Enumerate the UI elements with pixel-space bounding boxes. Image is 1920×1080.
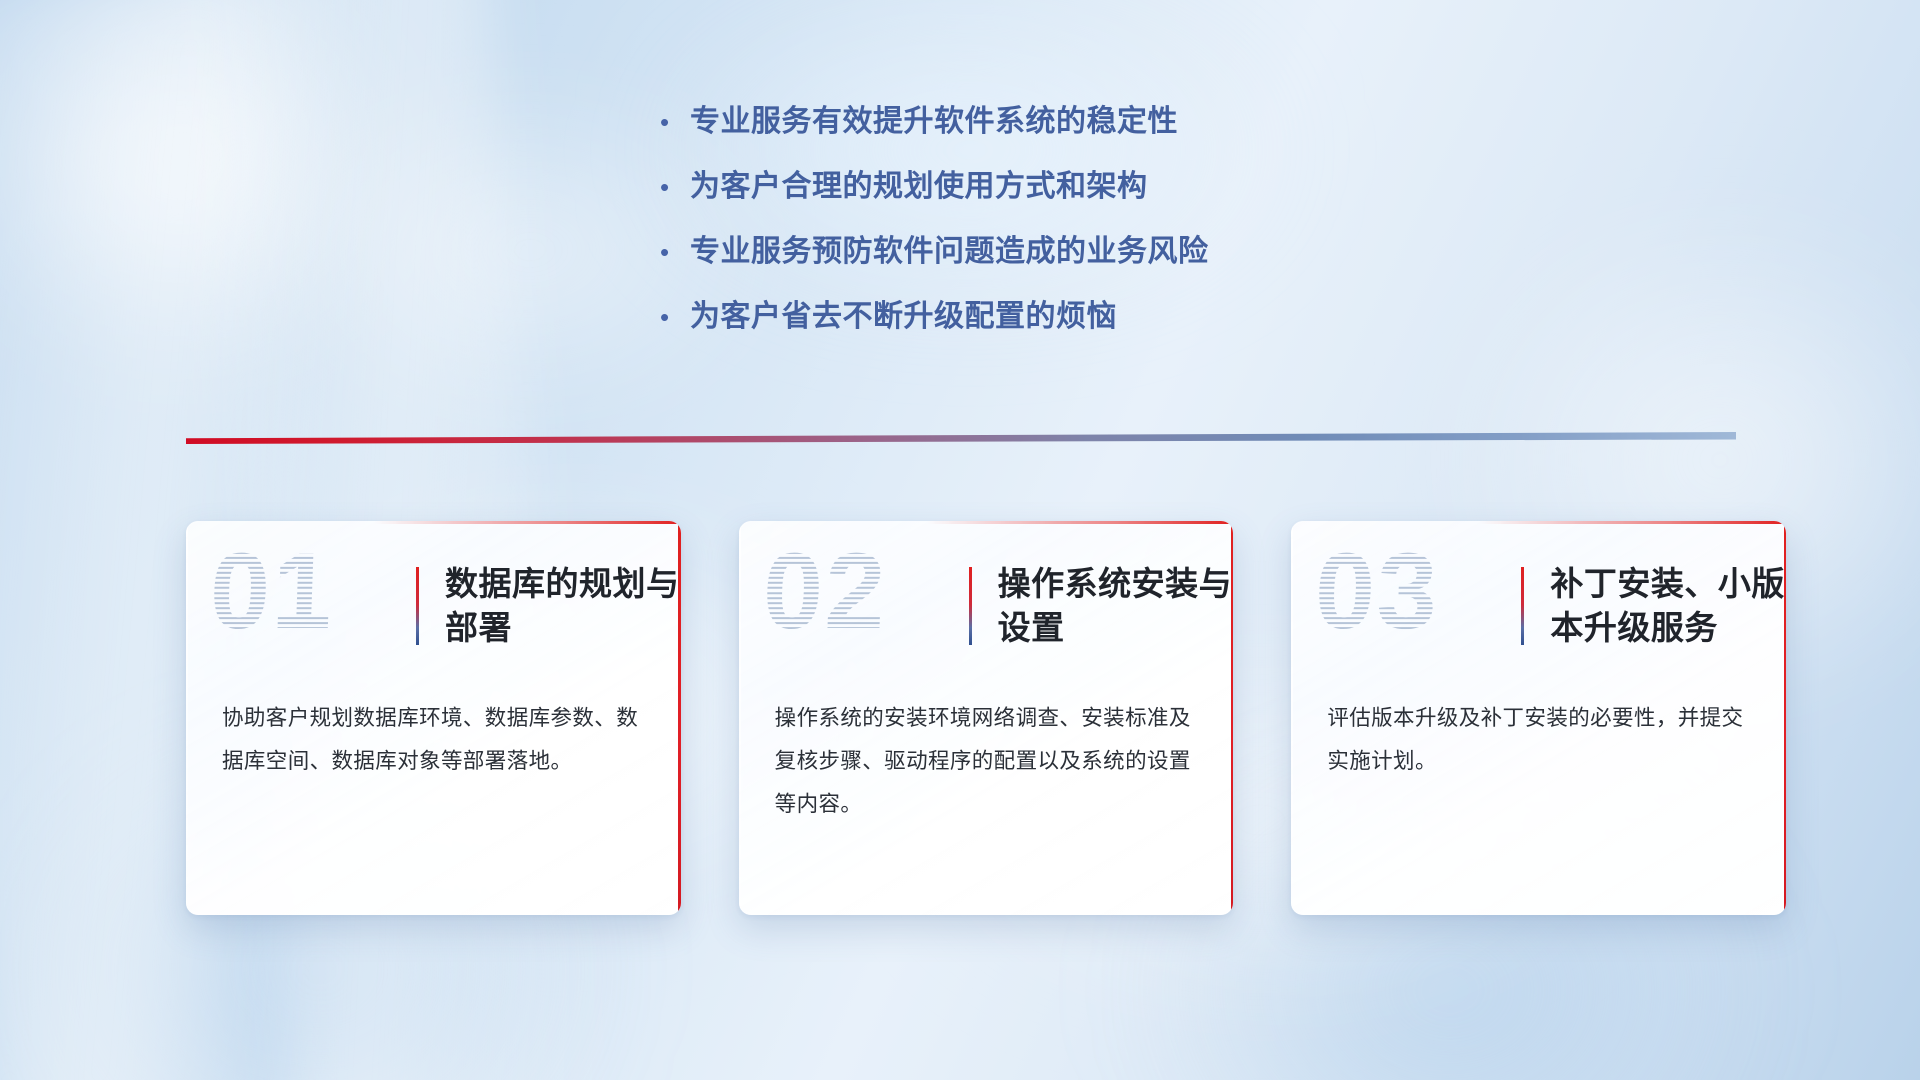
bullet-dot-icon: • — [660, 109, 690, 135]
service-card-03[interactable]: 03 补丁安装、小版本升级服务 评估版本升级及补丁安装的必要性，并提交实施计划。 — [1291, 521, 1786, 915]
card-title-accent-bar — [969, 567, 972, 645]
benefits-bullet-list: • 专业服务有效提升软件系统的稳定性 • 为客户合理的规划使用方式和架构 • 专… — [660, 107, 1460, 367]
service-card-02[interactable]: 02 操作系统安装与设置 操作系统的安装环境网络调查、安装标准及复核步骤、驱动程… — [739, 521, 1234, 915]
service-card-01[interactable]: 01 数据库的规划与部署 协助客户规划数据库环境、数据库参数、数据库空间、数据库… — [186, 521, 681, 915]
card-header: 02 操作系统安装与设置 — [739, 521, 1234, 691]
service-card-group: 01 数据库的规划与部署 协助客户规划数据库环境、数据库参数、数据库空间、数据库… — [186, 521, 1786, 921]
card-body-text: 协助客户规划数据库环境、数据库参数、数据库空间、数据库对象等部署落地。 — [186, 691, 681, 783]
bullet-dot-icon: • — [660, 304, 690, 330]
section-divider — [186, 432, 1736, 444]
card-title-accent-bar — [416, 567, 419, 645]
card-title-block: 操作系统安装与设置 — [969, 562, 1234, 650]
card-title-accent-bar — [1521, 567, 1524, 645]
card-title-block: 数据库的规划与部署 — [416, 562, 681, 650]
list-item: • 专业服务预防软件问题造成的业务风险 — [660, 237, 1460, 302]
list-item: • 为客户省去不断升级配置的烦恼 — [660, 302, 1460, 367]
card-title: 操作系统安装与设置 — [998, 562, 1234, 650]
card-body-text: 评估版本升级及补丁安装的必要性，并提交实施计划。 — [1291, 691, 1786, 783]
list-item: • 专业服务有效提升软件系统的稳定性 — [660, 107, 1460, 172]
bullet-text-4: 为客户省去不断升级配置的烦恼 — [690, 302, 1117, 332]
bullet-dot-icon: • — [660, 174, 690, 200]
list-item: • 为客户合理的规划使用方式和架构 — [660, 172, 1460, 237]
bullet-text-3: 专业服务预防软件问题造成的业务风险 — [690, 237, 1209, 267]
card-header: 01 数据库的规划与部署 — [186, 521, 681, 691]
card-title: 补丁安装、小版本升级服务 — [1550, 562, 1786, 650]
card-title: 数据库的规划与部署 — [445, 562, 681, 650]
card-number-watermark: 03 — [1313, 537, 1441, 645]
divider-gradient-bar — [186, 432, 1736, 444]
card-body-text: 操作系统的安装环境网络调查、安装标准及复核步骤、驱动程序的配置以及系统的设置等内… — [739, 691, 1234, 826]
bullet-text-1: 专业服务有效提升软件系统的稳定性 — [690, 107, 1178, 137]
card-title-block: 补丁安装、小版本升级服务 — [1521, 562, 1786, 650]
bullet-dot-icon: • — [660, 239, 690, 265]
card-number-watermark: 01 — [208, 537, 336, 645]
card-header: 03 补丁安装、小版本升级服务 — [1291, 521, 1786, 691]
card-number-watermark: 02 — [761, 537, 889, 645]
bullet-text-2: 为客户合理的规划使用方式和架构 — [690, 172, 1148, 202]
